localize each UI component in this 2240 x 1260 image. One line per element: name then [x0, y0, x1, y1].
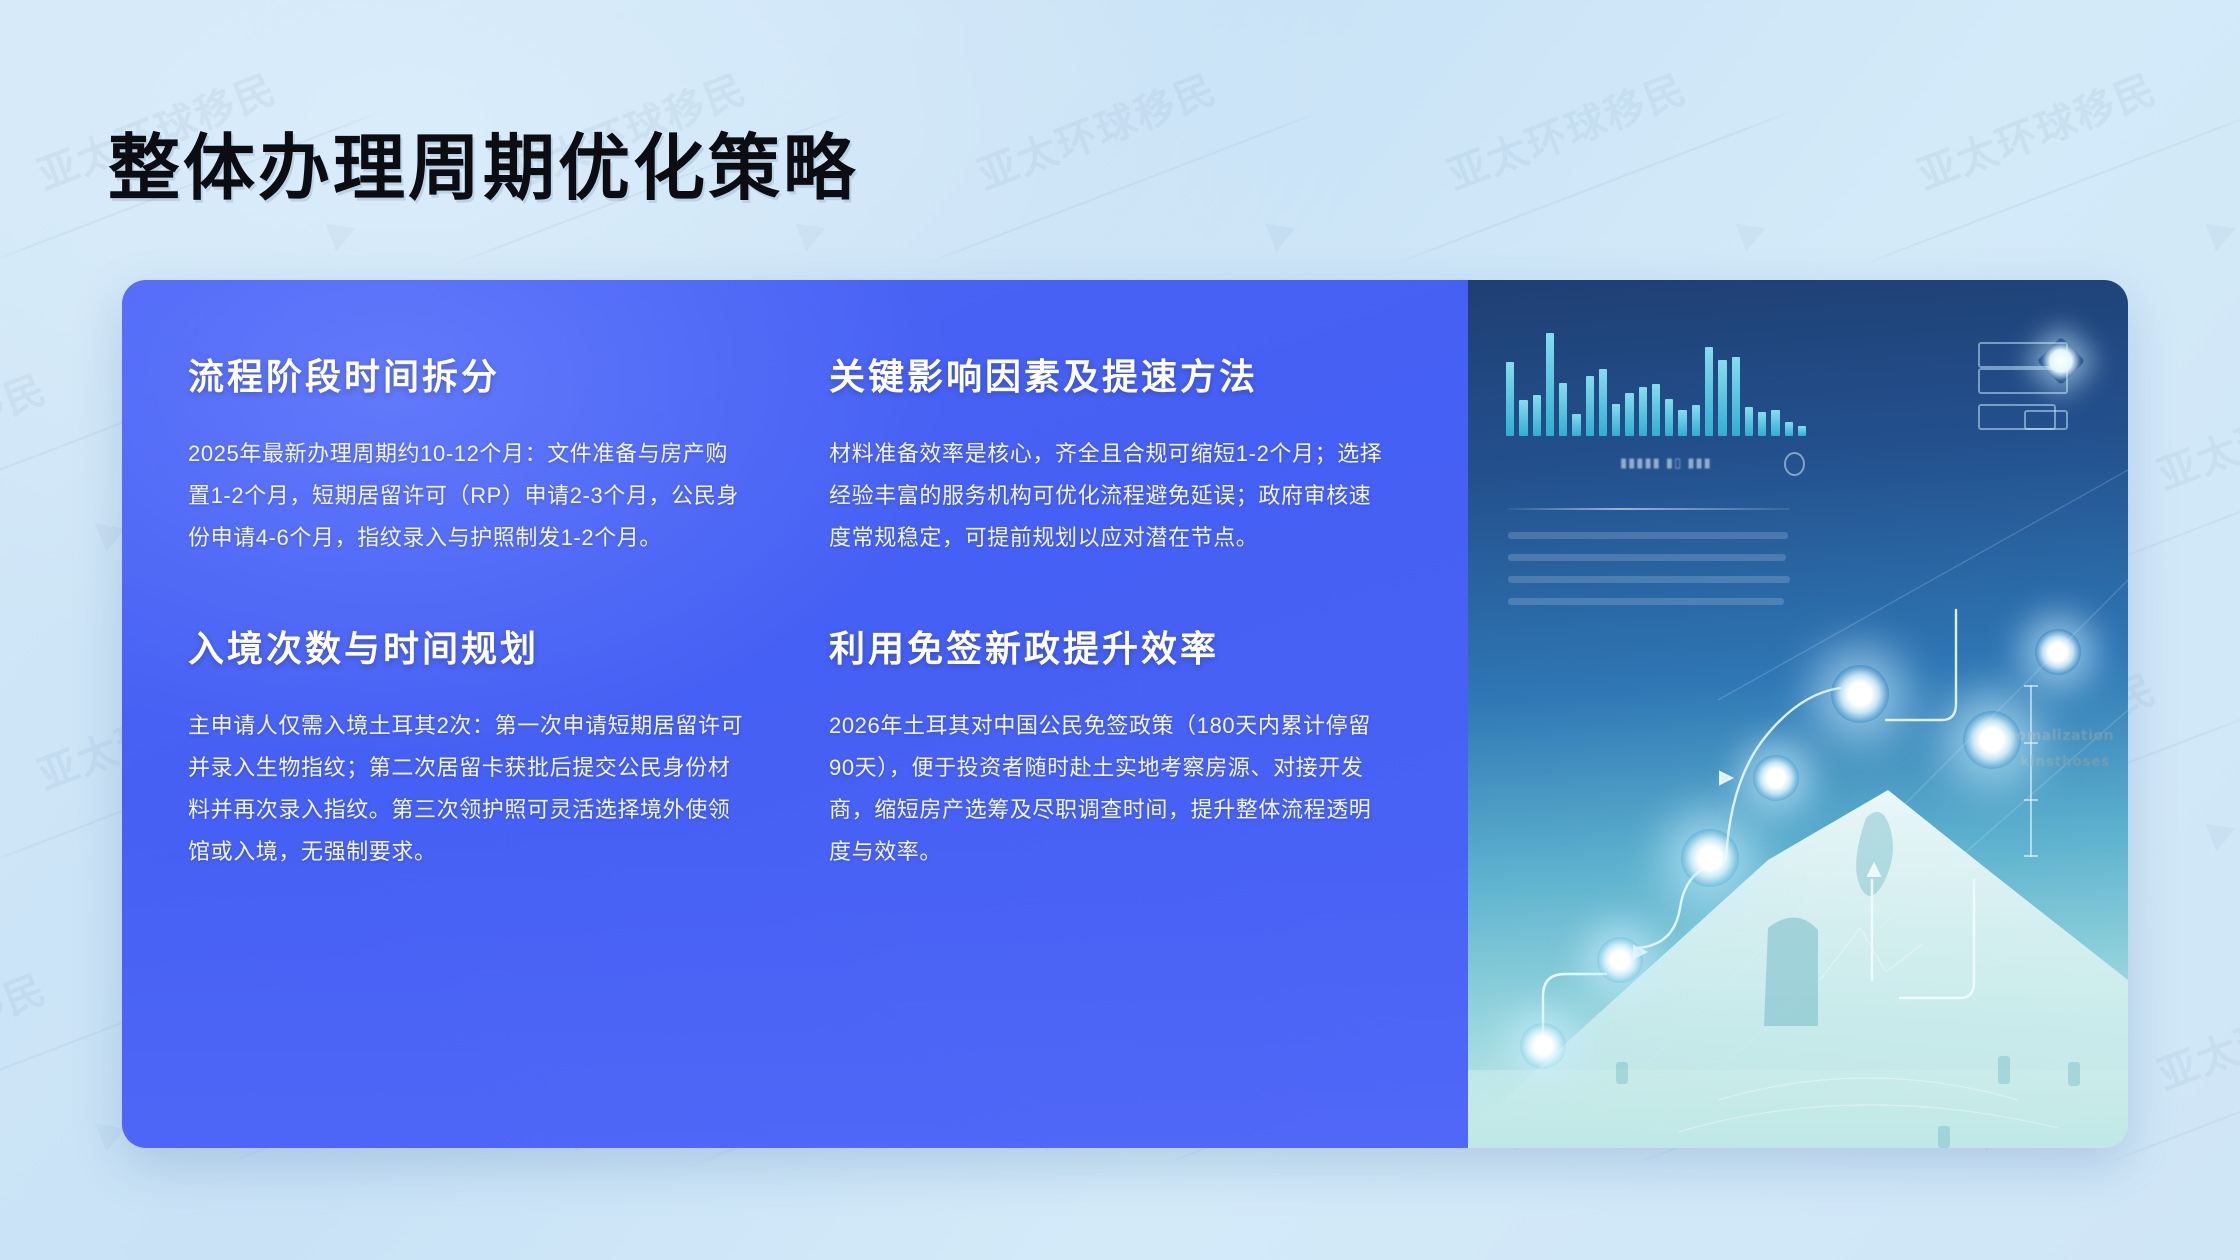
- block-2-body: 材料准备效率是核心，齐全且合规可缩短1-2个月；选择经验丰富的服务机构可优化流程…: [829, 433, 1389, 560]
- glow-node: [1753, 755, 1799, 801]
- glow-node: [1597, 937, 1643, 983]
- content-block-4: 利用免签新政提升效率 2026年土耳其对中国公民免签政策（180天内累计停留90…: [829, 626, 1398, 874]
- content-card: 流程阶段时间拆分 2025年最新办理周期约10-12个月：文件准备与房产购置1-…: [122, 280, 2128, 1148]
- content-grid: 流程阶段时间拆分 2025年最新办理周期约10-12个月：文件准备与房产购置1-…: [188, 354, 1398, 874]
- decorative-network-and-mountain: [1468, 280, 2128, 1148]
- block-3-body: 主申请人仅需入境土耳其2次：第一次申请短期居留许可并录入生物指纹；第二次居留卡获…: [188, 705, 748, 874]
- content-block-2: 关键影响因素及提速方法 材料准备效率是核心，齐全且合规可缩短1-2个月；选择经验…: [829, 354, 1398, 560]
- watermark-text: 亚太环球移民: [1908, 57, 2164, 201]
- block-4-body: 2026年土耳其对中国公民免签政策（180天内累计停留90天），便于投资者随时赴…: [829, 705, 1389, 874]
- block-1-heading: 流程阶段时间拆分: [188, 354, 757, 399]
- block-2-heading: 关键影响因素及提速方法: [829, 354, 1398, 399]
- glow-node: [1963, 711, 2021, 769]
- glow-node: [1831, 665, 1889, 723]
- watermark-line: [1864, 109, 2240, 265]
- watermark-text: 亚太环球移民: [968, 57, 1224, 201]
- card-text-panel: 流程阶段时间拆分 2025年最新办理周期约10-12个月：文件准备与房产购置1-…: [122, 280, 1468, 1148]
- decorative-ruler: [2030, 685, 2032, 857]
- watermark-triangle-icon: [2205, 214, 2240, 251]
- watermark-line: [924, 109, 1326, 265]
- watermark-text: 亚太环球移民: [0, 957, 54, 1101]
- watermark-triangle-icon: [2205, 814, 2240, 851]
- watermark-triangle-icon: [1265, 214, 1300, 251]
- block-1-body: 2025年最新办理周期约10-12个月：文件准备与房产购置1-2个月，短期居留许…: [188, 433, 748, 560]
- decorative-ruler-tick: [2024, 685, 2038, 687]
- decorative-ruler-tick: [2024, 799, 2038, 801]
- watermark-text: 亚太环球移民: [1438, 57, 1694, 201]
- card-illustration-panel: ▮▮▮▮▮ ▮▯ ▮▮▮: [1468, 280, 2128, 1148]
- watermark-line: [1394, 109, 1796, 265]
- decorative-ruler-tick: [2024, 855, 2038, 857]
- content-block-3: 入境次数与时间规划 主申请人仅需入境土耳其2次：第一次申请短期居留许可并录入生物…: [188, 626, 757, 874]
- watermark-text: 亚太环球移民: [2148, 357, 2240, 501]
- watermark-triangle-icon: [1735, 214, 1770, 251]
- watermark-triangle-icon: [325, 214, 360, 251]
- watermark-text: 亚太环球移民: [0, 357, 54, 501]
- content-block-1: 流程阶段时间拆分 2025年最新办理周期约10-12个月：文件准备与房产购置1-…: [188, 354, 757, 560]
- page-title: 整体办理周期优化策略: [108, 130, 858, 209]
- slide-canvas: 亚太环球移民亚太环球移民亚太环球移民亚太环球移民亚太环球移民亚太环球移民亚太环球…: [0, 0, 2240, 1260]
- glow-node: [1681, 829, 1739, 887]
- artwork-caption-sub: kinsthoses: [2020, 754, 2110, 770]
- glow-node: [2035, 629, 2081, 675]
- watermark-triangle-icon: [795, 214, 830, 251]
- glow-node: [1520, 1023, 1566, 1069]
- block-3-heading: 入境次数与时间规划: [188, 626, 757, 671]
- watermark-text: 亚太环球移民: [2148, 957, 2240, 1101]
- block-4-heading: 利用免签新政提升效率: [829, 626, 1398, 671]
